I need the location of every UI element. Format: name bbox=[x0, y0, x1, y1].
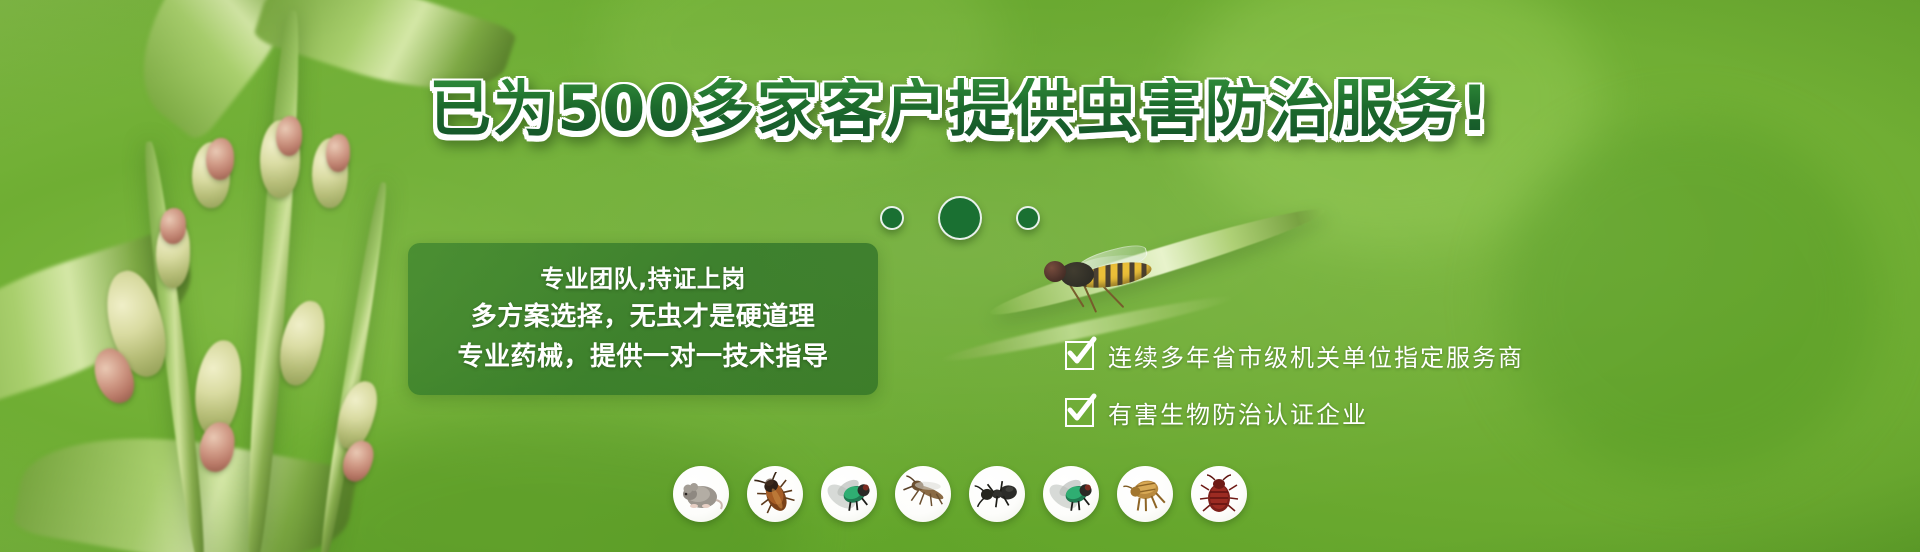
decorative-dots bbox=[0, 196, 1920, 240]
dot-small-left bbox=[880, 206, 904, 230]
feature-row: 有害生物防治认证企业 bbox=[1065, 395, 1524, 430]
feature-row: 连续多年省市级机关单位指定服务商 bbox=[1065, 338, 1524, 373]
feature-list: 连续多年省市级机关单位指定服务商 有害生物防治认证企业 bbox=[1065, 338, 1524, 430]
promo-banner: 已为500多家客户提供虫害防治服务! 专业团队,持证上岗 多方案选择，无虫才是硬… bbox=[0, 0, 1920, 552]
mouse-icon[interactable] bbox=[673, 466, 729, 522]
feature-label: 连续多年省市级机关单位指定服务商 bbox=[1108, 338, 1524, 373]
dot-small-right bbox=[1016, 206, 1040, 230]
dot-large-center bbox=[938, 196, 982, 240]
slogan-line-1: 专业团队,持证上岗 bbox=[540, 265, 746, 293]
pest-icon-strip bbox=[0, 466, 1920, 522]
feature-label: 有害生物防治认证企业 bbox=[1108, 395, 1368, 430]
ant-icon[interactable] bbox=[969, 466, 1025, 522]
slogan-line-2: 多方案选择，无虫才是硬道理 bbox=[471, 302, 816, 333]
fly-green-icon[interactable] bbox=[1043, 466, 1099, 522]
slogan-panel: 专业团队,持证上岗 多方案选择，无虫才是硬道理 专业药械，提供一对一技术指导 bbox=[408, 243, 878, 395]
slogan-line-3: 专业药械，提供一对一技术指导 bbox=[457, 342, 828, 373]
flea-icon[interactable] bbox=[1117, 466, 1173, 522]
fly-icon[interactable] bbox=[821, 466, 877, 522]
cockroach-icon[interactable] bbox=[747, 466, 803, 522]
checkbox-checked-icon bbox=[1065, 398, 1094, 427]
checkbox-checked-icon bbox=[1065, 341, 1094, 370]
mosquito-icon[interactable] bbox=[895, 466, 951, 522]
page-title: 已为500多家客户提供虫害防治服务! bbox=[0, 78, 1920, 140]
bedbug-icon[interactable] bbox=[1191, 466, 1247, 522]
